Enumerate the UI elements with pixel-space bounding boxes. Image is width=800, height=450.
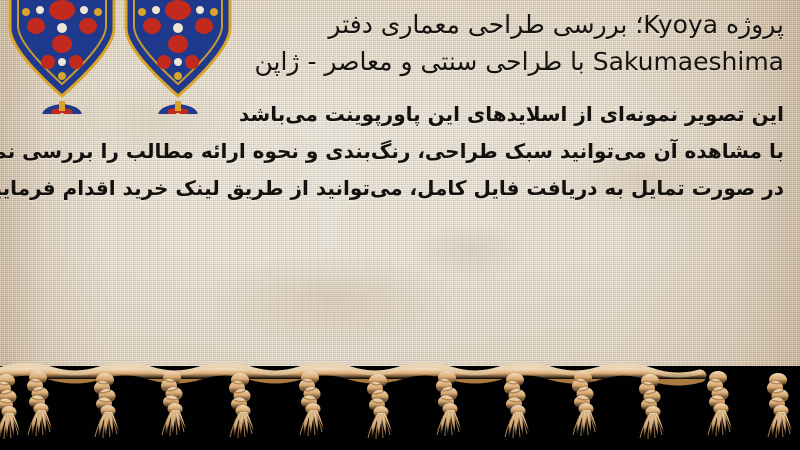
woven-cloth-background: پروژه Kyoya؛ بررسی طراحی معماری دفتر Sak… [0, 0, 800, 378]
slide-canvas: پروژه Kyoya؛ بررسی طراحی معماری دفتر Sak… [0, 0, 800, 450]
slide-title-line-1: پروژه Kyoya؛ بررسی طراحی معماری دفتر [328, 10, 784, 39]
slide-title-line-2: Sakumaeshima با طراحی سنتی و معاصر - ژاپ… [0, 43, 784, 80]
slide-body: این تصویر نمونه‌ای از اسلایدهای این پاور… [0, 80, 800, 207]
slide-title: پروژه Kyoya؛ بررسی طراحی معماری دفتر Sak… [0, 0, 800, 80]
slide-body-line-1: این تصویر نمونه‌ای از اسلایدهای این پاور… [0, 96, 784, 133]
slide-body-line-3: در صورت تمایل به دریافت فایل کامل، می‌تو… [0, 170, 784, 207]
slide-body-line-2: با مشاهده آن می‌توانید سبک طراحی، رنگ‌بن… [0, 133, 784, 170]
black-base-area [0, 366, 800, 450]
slide-text-stack: پروژه Kyoya؛ بررسی طراحی معماری دفتر Sak… [0, 0, 800, 207]
